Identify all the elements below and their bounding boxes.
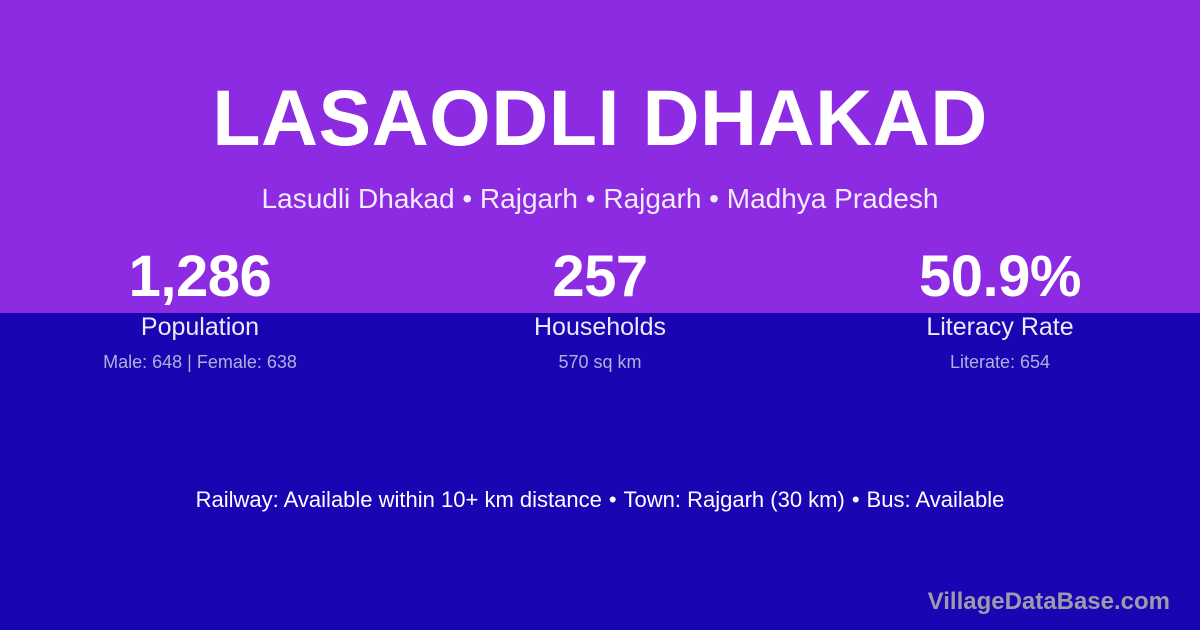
stat-sublabel: Literate: 654: [800, 352, 1200, 374]
stat-value: 257: [400, 247, 800, 308]
info-railway: Railway: Available within 10+ km distanc…: [196, 487, 602, 512]
stat-value: 50.9%: [800, 247, 1200, 308]
info-separator-icon: •: [845, 487, 867, 512]
stat-households: 257 Households 570 sq km: [400, 247, 800, 373]
amenities-info-line: Railway: Available within 10+ km distanc…: [0, 486, 1200, 515]
breadcrumb-subtitle: Lasudli Dhakad • Rajgarh • Rajgarh • Mad…: [0, 182, 1200, 216]
site-branding: VillageDataBase.com: [928, 588, 1170, 617]
info-separator-icon: •: [602, 487, 624, 512]
page-title: LASAODLI DHAKAD: [0, 78, 1200, 157]
stat-label: Households: [400, 312, 800, 342]
card-content: LASAODLI DHAKAD Lasudli Dhakad • Rajgarh…: [0, 0, 1200, 630]
stat-sublabel: Male: 648 | Female: 638: [0, 352, 400, 374]
stat-sublabel: 570 sq km: [400, 352, 800, 374]
stats-row: 1,286 Population Male: 648 | Female: 638…: [0, 247, 1200, 373]
stat-value: 1,286: [0, 247, 400, 308]
stat-label: Population: [0, 312, 400, 342]
village-info-card: LASAODLI DHAKAD Lasudli Dhakad • Rajgarh…: [0, 0, 1200, 630]
stat-population: 1,286 Population Male: 648 | Female: 638: [0, 247, 400, 373]
stat-literacy-rate: 50.9% Literacy Rate Literate: 654: [800, 247, 1200, 373]
info-town: Town: Rajgarh (30 km): [624, 487, 845, 512]
stat-label: Literacy Rate: [800, 312, 1200, 342]
info-bus: Bus: Available: [867, 487, 1005, 512]
